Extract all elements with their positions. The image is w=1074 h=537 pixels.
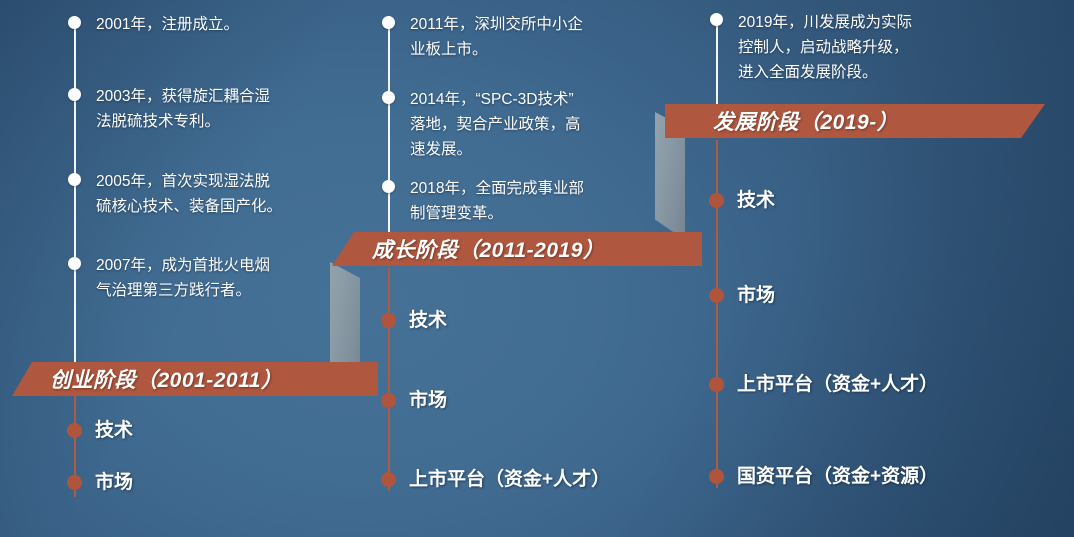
stage-banner-development[interactable]: 发展阶段（2019-） — [665, 104, 1045, 138]
pillar-dot-stage-1-0 — [67, 423, 82, 438]
pillar-dot-stage-2-2 — [381, 472, 396, 487]
event-text-2001: 2001年，注册成立。 — [96, 12, 239, 37]
stage-banner-development-label: 发展阶段（2019-） — [713, 106, 898, 136]
timeline-dot-2014 — [382, 91, 395, 104]
timeline-line-stage-2-lower — [388, 268, 390, 491]
event-text-2003: 2003年，获得旋汇耦合湿 法脱硫技术专利。 — [96, 84, 270, 134]
event-text-2011: 2011年，深圳交所中小企 业板上市。 — [410, 12, 583, 62]
pillar-dot-stage-3-0 — [709, 193, 724, 208]
pillar-dot-stage-1-1 — [67, 475, 82, 490]
pillar-label-stage-3-0: 技术 — [737, 190, 775, 212]
stage-banner-startup[interactable]: 创业阶段（2001-2011） — [12, 362, 378, 396]
pillar-label-stage-2-1: 市场 — [409, 390, 447, 412]
event-text-2005: 2005年，首次实现湿法脱 硫核心技术、装备国产化。 — [96, 169, 282, 219]
timeline-line-stage-1-upper — [74, 16, 76, 370]
infographic-canvas: 2001年，注册成立。 2003年，获得旋汇耦合湿 法脱硫技术专利。 2005年… — [0, 0, 1074, 537]
pillar-label-stage-3-1: 市场 — [737, 285, 775, 307]
timeline-line-stage-2-upper — [388, 16, 390, 238]
pillar-label-stage-3-2: 上市平台（资金+人才） — [737, 374, 938, 396]
timeline-dot-2005 — [68, 173, 81, 186]
pillar-dot-stage-3-2 — [709, 377, 724, 392]
event-text-2019: 2019年，川发展成为实际 控制人，启动战略升级， 进入全面发展阶段。 — [738, 10, 912, 85]
pillar-dot-stage-3-3 — [709, 469, 724, 484]
pillar-label-stage-1-0: 技术 — [95, 420, 133, 442]
pillar-dot-stage-2-0 — [381, 313, 396, 328]
timeline-dot-2007 — [68, 257, 81, 270]
timeline-line-stage-3-upper — [716, 16, 718, 106]
timeline-dot-2003 — [68, 88, 81, 101]
event-text-2007: 2007年，成为首批火电烟 气治理第三方践行者。 — [96, 253, 270, 303]
timeline-dot-2019 — [710, 13, 723, 26]
pillar-dot-stage-3-1 — [709, 288, 724, 303]
pillar-label-stage-3-3: 国资平台（资金+资源） — [737, 466, 938, 488]
timeline-dot-2011 — [382, 16, 395, 29]
timeline-dot-2018 — [382, 180, 395, 193]
stage-banner-startup-label: 创业阶段（2001-2011） — [50, 364, 282, 394]
stage-banner-growth-label: 成长阶段（2011-2019） — [372, 234, 604, 264]
pillar-label-stage-1-1: 市场 — [95, 472, 133, 494]
event-text-2018: 2018年，全面完成事业部 制管理变革。 — [410, 176, 584, 226]
timeline-dot-2001 — [68, 16, 81, 29]
pillar-label-stage-2-2: 上市平台（资金+人才） — [409, 469, 610, 491]
event-text-2014: 2014年，“SPC-3D技术” 落地，契合产业政策，高 速发展。 — [410, 87, 581, 162]
pillar-label-stage-2-0: 技术 — [409, 310, 447, 332]
stage-banner-growth[interactable]: 成长阶段（2011-2019） — [332, 232, 702, 266]
pillar-dot-stage-2-1 — [381, 393, 396, 408]
